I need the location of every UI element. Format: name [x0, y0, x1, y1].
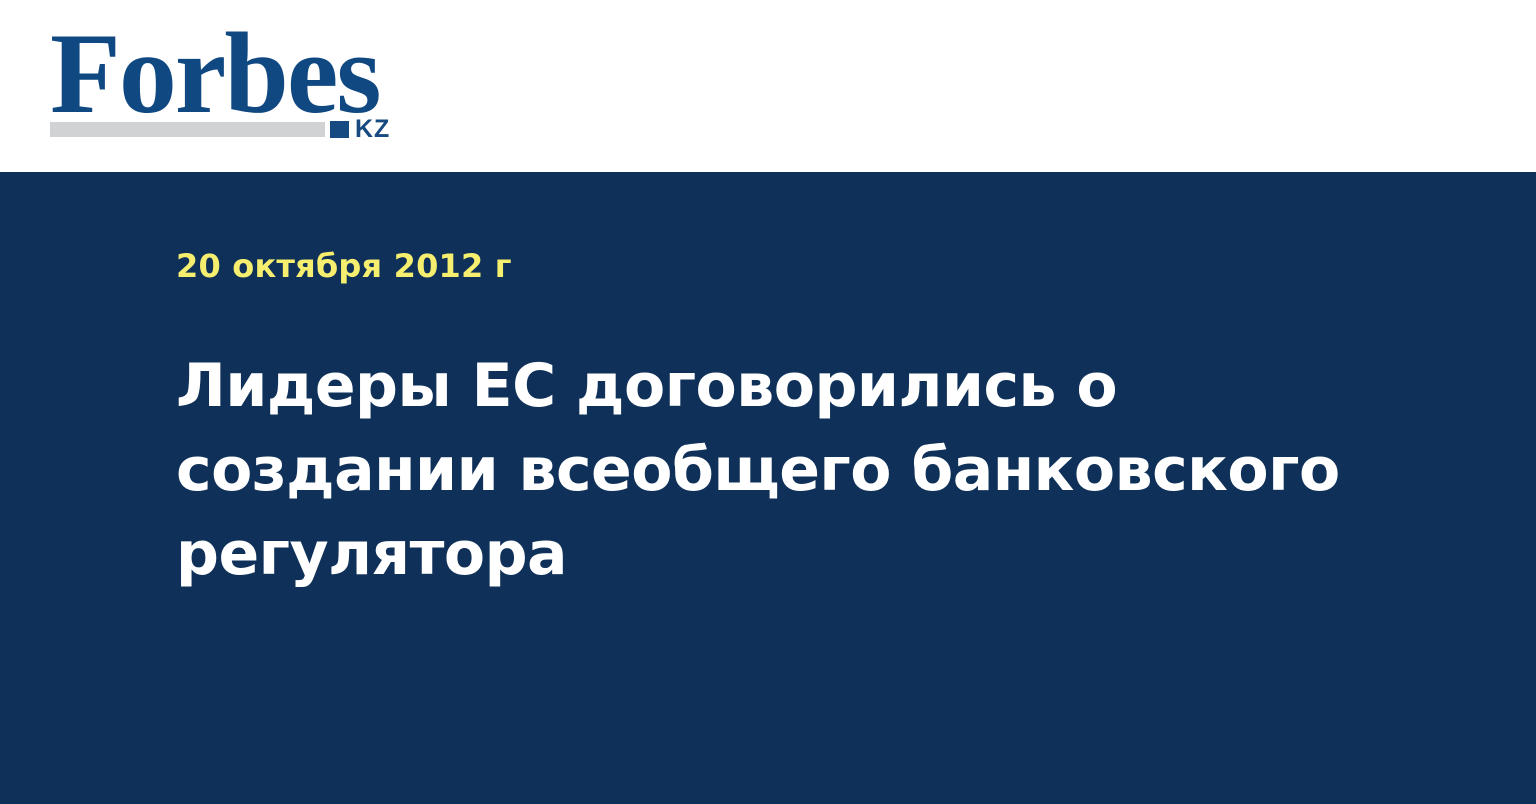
logo-blue-square-icon: [330, 121, 349, 138]
forbes-wordmark: Forbes: [50, 24, 380, 124]
forbes-kz-logo[interactable]: Forbes KZ: [50, 24, 410, 142]
logo-underline-rule: [50, 122, 325, 137]
logo-kz-suffix: KZ: [355, 117, 390, 142]
article-hero: 20 октября 2012 г Лидеры ЕС договорились…: [0, 172, 1536, 804]
site-header: Forbes KZ: [0, 0, 1536, 172]
article-hero-content: 20 октября 2012 г Лидеры ЕС договорились…: [176, 172, 1406, 596]
article-hero-page: Forbes KZ 20 октября 2012 г Лидеры ЕС до…: [0, 0, 1536, 804]
article-title: Лидеры ЕС договорились о создании всеобщ…: [176, 284, 1376, 596]
article-date: 20 октября 2012 г: [176, 172, 1406, 284]
